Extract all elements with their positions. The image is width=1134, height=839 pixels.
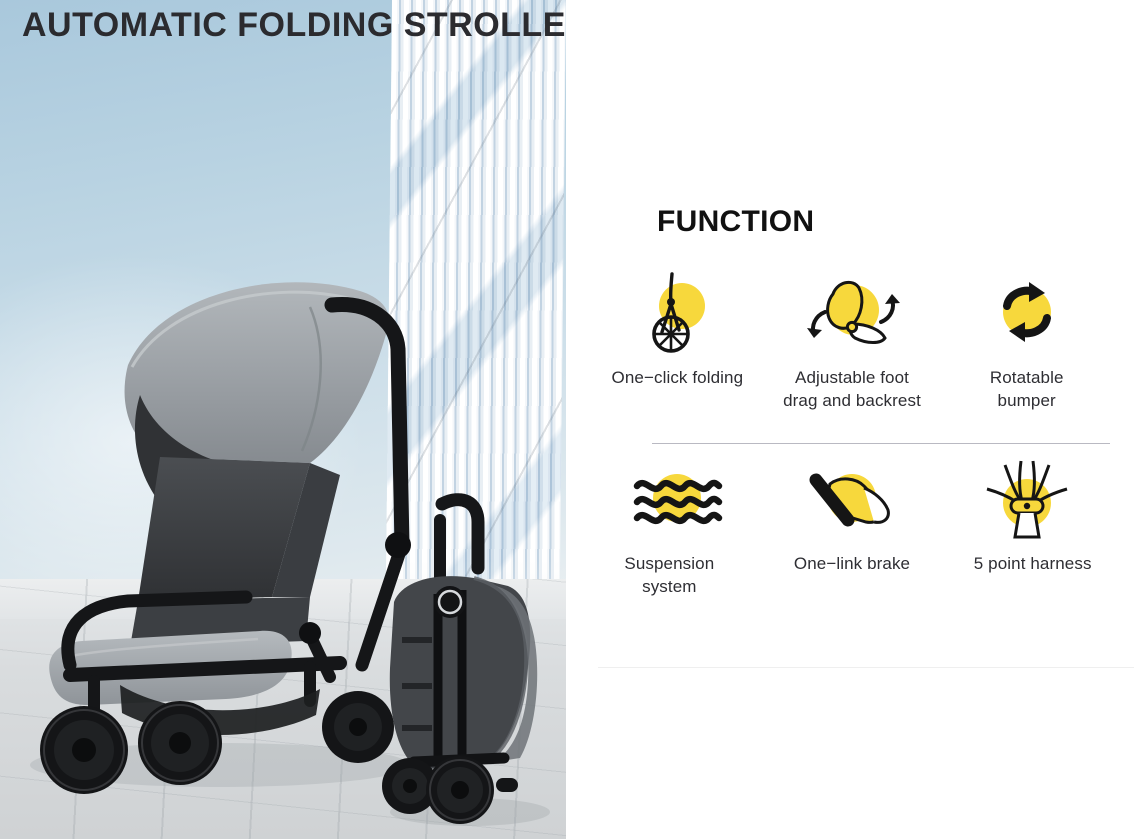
function-heading: FUNCTION	[657, 205, 814, 239]
function-label: Suspension system	[624, 552, 714, 598]
function-label: Rotatable bumper	[990, 366, 1064, 412]
adjustable-recline-icon	[797, 268, 907, 360]
stroller-unfolded-illustration	[10, 245, 440, 805]
function-item-one-link-brake[interactable]: One−link brake	[765, 454, 940, 598]
function-item-one-click-folding[interactable]: One−click folding	[590, 268, 765, 412]
function-label: One−click folding	[612, 366, 744, 389]
rotatable-bumper-icon	[985, 268, 1069, 360]
page-title: AUTOMATIC FOLDING STROLLER	[22, 6, 566, 45]
function-panel: FUNCTION	[566, 0, 1134, 839]
product-detail-page: AUTOMATIC FOLDING STROLLER FUNCTION	[0, 0, 1134, 839]
function-label: 5 point harness	[974, 552, 1092, 575]
function-item-adjustable-recline[interactable]: Adjustable foot drag and backrest	[765, 268, 940, 412]
function-label: One−link brake	[794, 552, 910, 575]
suspension-waves-icon	[627, 454, 727, 546]
function-label: Adjustable foot drag and backrest	[783, 366, 921, 412]
function-row-1: One−click folding	[590, 268, 1114, 412]
function-item-five-point-harness[interactable]: 5 point harness	[939, 454, 1114, 598]
function-item-rotatable-bumper[interactable]: Rotatable bumper	[939, 268, 1114, 412]
hero-product-photo: AUTOMATIC FOLDING STROLLER	[0, 0, 566, 839]
function-item-suspension-system[interactable]: Suspension system	[590, 454, 765, 598]
one-click-folding-icon	[638, 268, 716, 360]
five-point-harness-icon	[981, 454, 1073, 546]
footer-divider	[598, 667, 1134, 668]
function-row-2: Suspension system	[590, 454, 1114, 598]
function-grid: One−click folding	[590, 268, 1114, 598]
section-divider	[652, 443, 1110, 444]
stroller-folded-illustration	[378, 490, 563, 835]
one-link-brake-icon	[802, 454, 902, 546]
